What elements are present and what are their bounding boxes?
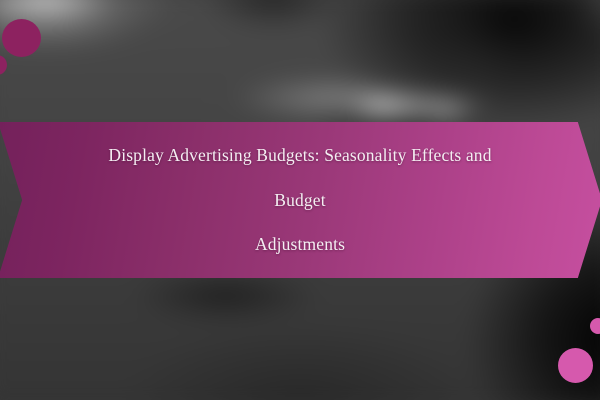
decorative-dot-top-left-large (2, 19, 41, 57)
decorative-dot-bottom-right-small (590, 318, 600, 334)
slide-title: Display Advertising Budgets: Seasonality… (85, 133, 515, 267)
decorative-dot-bottom-right-large (558, 348, 593, 383)
title-banner: Display Advertising Budgets: Seasonality… (0, 122, 600, 278)
title-slide: Display Advertising Budgets: Seasonality… (0, 0, 600, 400)
